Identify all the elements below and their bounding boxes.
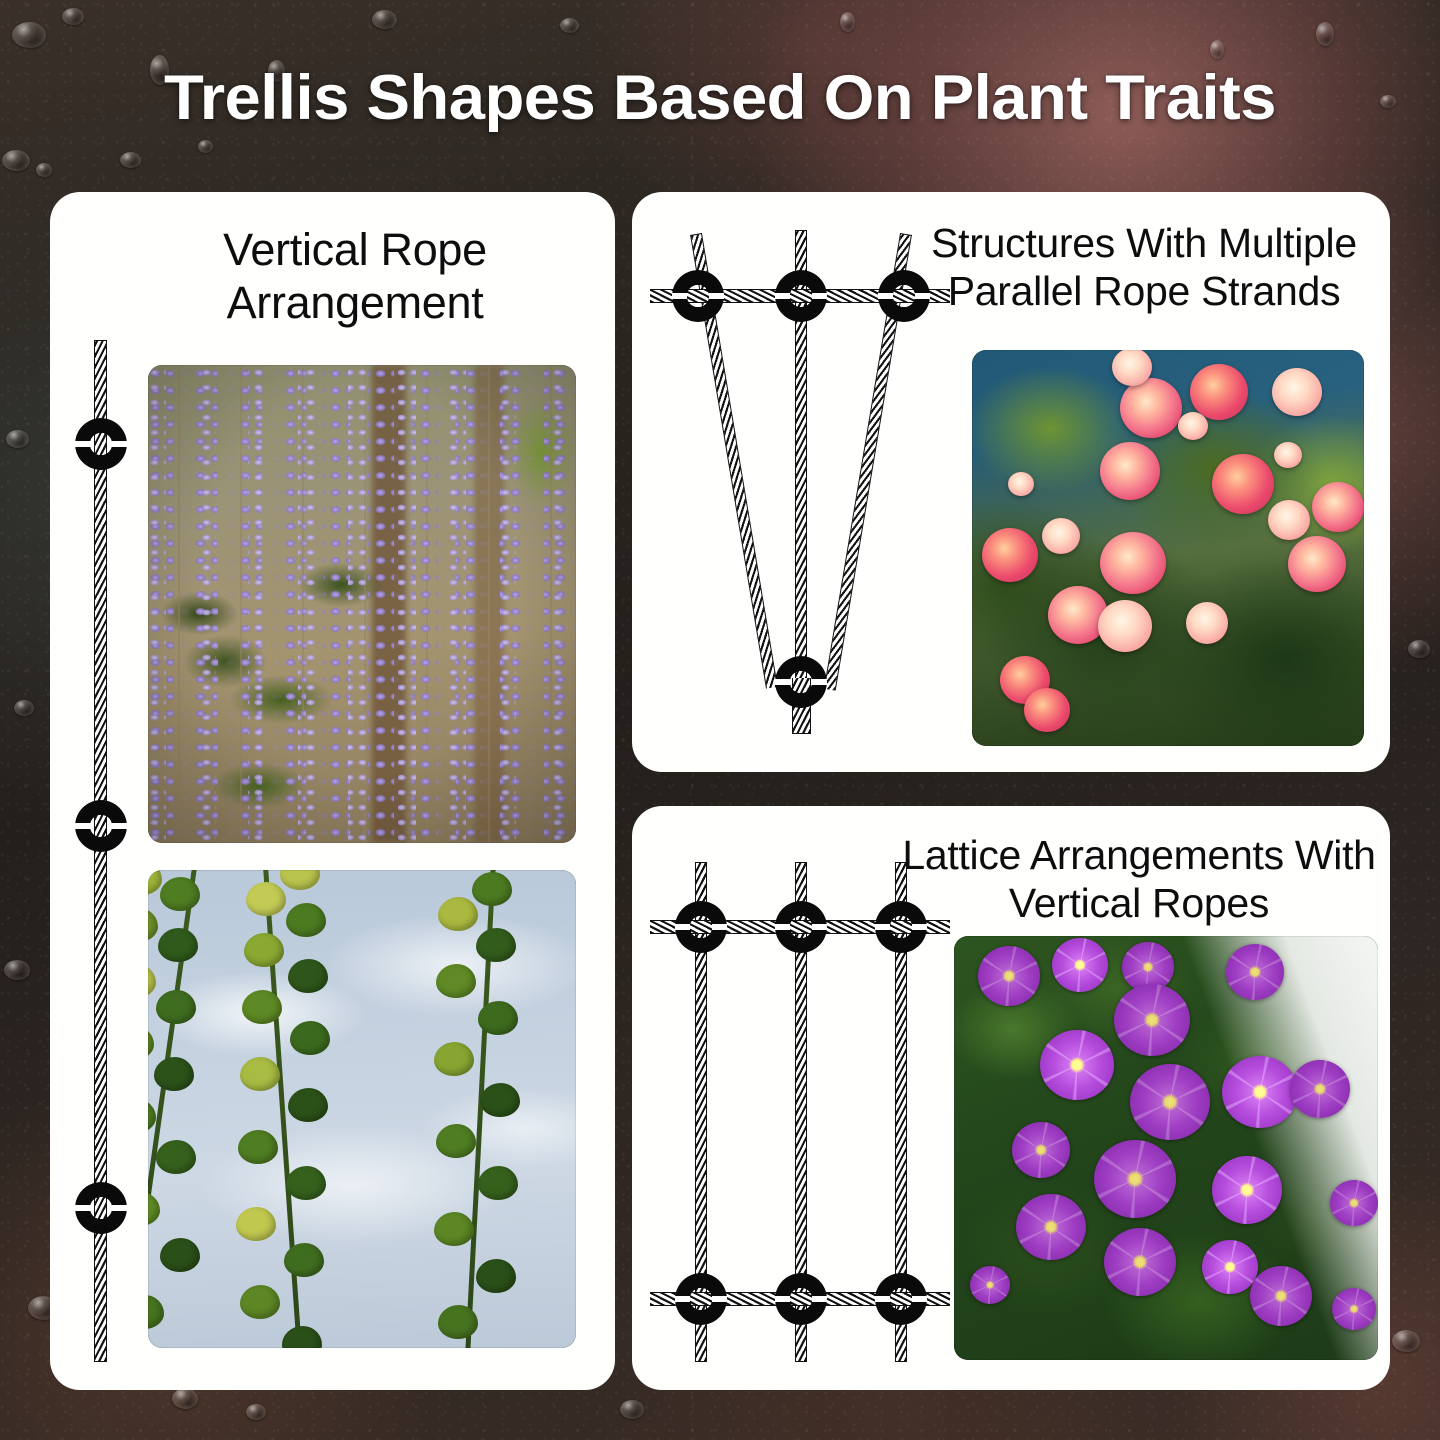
card-heading-parallel-ropes: Structures With Multiple Parallel Rope S… [910, 220, 1378, 316]
rose-bloom [1186, 602, 1228, 644]
vine-leaf [148, 908, 158, 942]
page-title: Trellis Shapes Based On Plant Traits [0, 62, 1440, 134]
rose-bloom [1024, 688, 1070, 732]
rope-knot-notch [812, 679, 827, 685]
rose-bloom [982, 528, 1038, 582]
water-droplet [12, 22, 46, 48]
rope-knot-notch [111, 823, 127, 829]
clematis-bloom [1130, 1064, 1210, 1140]
water-droplet [172, 1388, 198, 1409]
water-droplet [1408, 640, 1430, 658]
water-droplet [4, 960, 30, 980]
clematis-bloom [1226, 944, 1284, 1000]
vine-leaf [478, 1166, 518, 1200]
rope-knot-notch [75, 441, 91, 447]
vine-leaf [476, 928, 516, 962]
vine-leaf [284, 1243, 324, 1277]
rope-knot-notch [878, 293, 893, 299]
water-droplet [14, 700, 34, 716]
rope-knot-notch [812, 924, 827, 930]
vine-leaf [148, 964, 156, 998]
water-droplet [1392, 1330, 1420, 1352]
water-droplet [246, 1404, 266, 1420]
vine-leaf [472, 872, 512, 906]
rose-bud [1274, 442, 1302, 468]
vine-leaf [148, 1026, 154, 1060]
rose-bloom [1098, 600, 1152, 652]
clematis-bloom [1330, 1180, 1378, 1226]
rope-knot-notch [675, 1296, 690, 1302]
card-lattice-vertical-ropes: Lattice Arrangements With Vertical Ropes [632, 806, 1390, 1390]
vine-stalk-left [148, 870, 210, 1348]
rose-bloom [1272, 368, 1322, 416]
card-parallel-rope-strands: Structures With Multiple Parallel Rope S… [632, 192, 1390, 772]
clematis-photo [954, 936, 1378, 1360]
rope-knot-notch [875, 1296, 890, 1302]
vine-leaf [238, 1130, 278, 1164]
water-droplet [1316, 22, 1334, 46]
rope-knot-notch [712, 1296, 727, 1302]
vine-leaf [154, 1057, 194, 1091]
rose-bloom [1100, 532, 1166, 594]
vine-leaf [438, 1305, 478, 1339]
vine-leaf [286, 1166, 326, 1200]
rope-knot-notch [675, 924, 690, 930]
water-droplet [560, 18, 579, 33]
clematis-bloom [1202, 1240, 1258, 1294]
vine-leaf [242, 990, 282, 1024]
vine-leaf [246, 882, 286, 916]
vine-leaf [244, 933, 284, 967]
wisteria-photo [148, 365, 576, 843]
vine-leaf [156, 1140, 196, 1174]
vine-leaf [240, 1285, 280, 1319]
vine-leaf [280, 870, 320, 890]
clematis-bloom [1212, 1156, 1282, 1224]
rose-bloom [1042, 518, 1080, 554]
card-heading-vertical-rope: Vertical Rope Arrangement [110, 224, 600, 329]
clematis-bloom [978, 946, 1040, 1006]
vine-leaf [236, 1207, 276, 1241]
rose-bloom [1190, 364, 1248, 420]
vine-leaf [286, 903, 326, 937]
rope-knot-notch [111, 441, 127, 447]
water-droplet [198, 140, 213, 153]
vine-leaf [288, 1088, 328, 1122]
infographic-page: Trellis Shapes Based On Plant Traits Ver… [0, 0, 1440, 1440]
vine-leaf [434, 1212, 474, 1246]
water-droplet [840, 12, 855, 32]
clematis-bloom [1094, 1140, 1176, 1218]
card-heading-lattice-ropes: Lattice Arrangements With Vertical Ropes [900, 832, 1378, 928]
rope-knot-notch [75, 1205, 91, 1211]
card-vertical-rope-arrangement: Vertical Rope Arrangement [50, 192, 615, 1390]
clematis-bloom [1016, 1194, 1086, 1260]
vine-leaf [240, 1057, 280, 1091]
vine-leaf [476, 1259, 516, 1293]
water-droplet [120, 152, 141, 168]
clematis-bloom [1012, 1122, 1070, 1178]
rope-knot-notch [709, 293, 724, 299]
rope-knot-notch [775, 1296, 790, 1302]
clematis-bloom [1040, 1030, 1114, 1100]
vine-leaf [436, 1124, 476, 1158]
rose-bloom [1100, 442, 1160, 500]
vine-leaf [288, 959, 328, 993]
water-droplet [2, 150, 30, 171]
clematis-bloom [1052, 938, 1108, 992]
water-droplet [62, 8, 84, 25]
rope-knot-notch [111, 1205, 127, 1211]
rope-knot-notch [775, 293, 790, 299]
vine-leaf [480, 1083, 520, 1117]
vine-leaf [160, 1238, 200, 1272]
clematis-bloom [1250, 1266, 1312, 1326]
water-droplet [6, 430, 29, 448]
rose-bloom [1268, 500, 1310, 540]
rope-knot-notch [812, 1296, 827, 1302]
rose-bloom [1288, 536, 1346, 592]
vine-leaf [478, 1001, 518, 1035]
rope-knot-notch [775, 679, 790, 685]
vine-leaf [158, 928, 198, 962]
climbing-vine-photo [148, 870, 576, 1348]
vine-leaf [438, 897, 478, 931]
rose-bud [1178, 412, 1208, 440]
rose-bloom [1120, 378, 1182, 438]
rope-knot-notch [712, 924, 727, 930]
rope-knot-notch [775, 924, 790, 930]
water-droplet [372, 10, 397, 29]
vine-leaf [160, 877, 200, 911]
rope-knot-notch [912, 924, 927, 930]
vine-leaf [156, 990, 196, 1024]
clematis-bloom [1104, 1228, 1176, 1296]
vine-stalk-middle [236, 870, 332, 1348]
vine-leaf [282, 1326, 322, 1348]
rope-knot-notch [672, 293, 687, 299]
photo-vignette [148, 365, 576, 843]
water-droplet [1210, 40, 1224, 59]
clematis-bloom [1290, 1060, 1350, 1118]
rose-bloom [1212, 454, 1274, 514]
rope-knot-notch [75, 823, 91, 829]
rope-knot-notch [875, 924, 890, 930]
rope-knot-notch [912, 1296, 927, 1302]
clematis-bloom [970, 1266, 1010, 1304]
vine-leaf [148, 1295, 164, 1329]
vine-leaf [290, 1021, 330, 1055]
water-droplet [36, 163, 52, 177]
vine-leaf [434, 1042, 474, 1076]
rope-knot-notch [915, 293, 930, 299]
rose-bloom [1312, 482, 1364, 532]
rope-knot-notch [812, 293, 827, 299]
water-droplet [620, 1400, 644, 1419]
rose-bud [1008, 472, 1034, 496]
clematis-bloom [1222, 1056, 1298, 1128]
vine-leaf [436, 964, 476, 998]
climbing-roses-photo [972, 350, 1364, 746]
vine-leaf [148, 1192, 160, 1226]
clematis-bloom [1114, 984, 1190, 1056]
vine-stalk-right [434, 870, 530, 1348]
clematis-bloom [1332, 1288, 1376, 1330]
